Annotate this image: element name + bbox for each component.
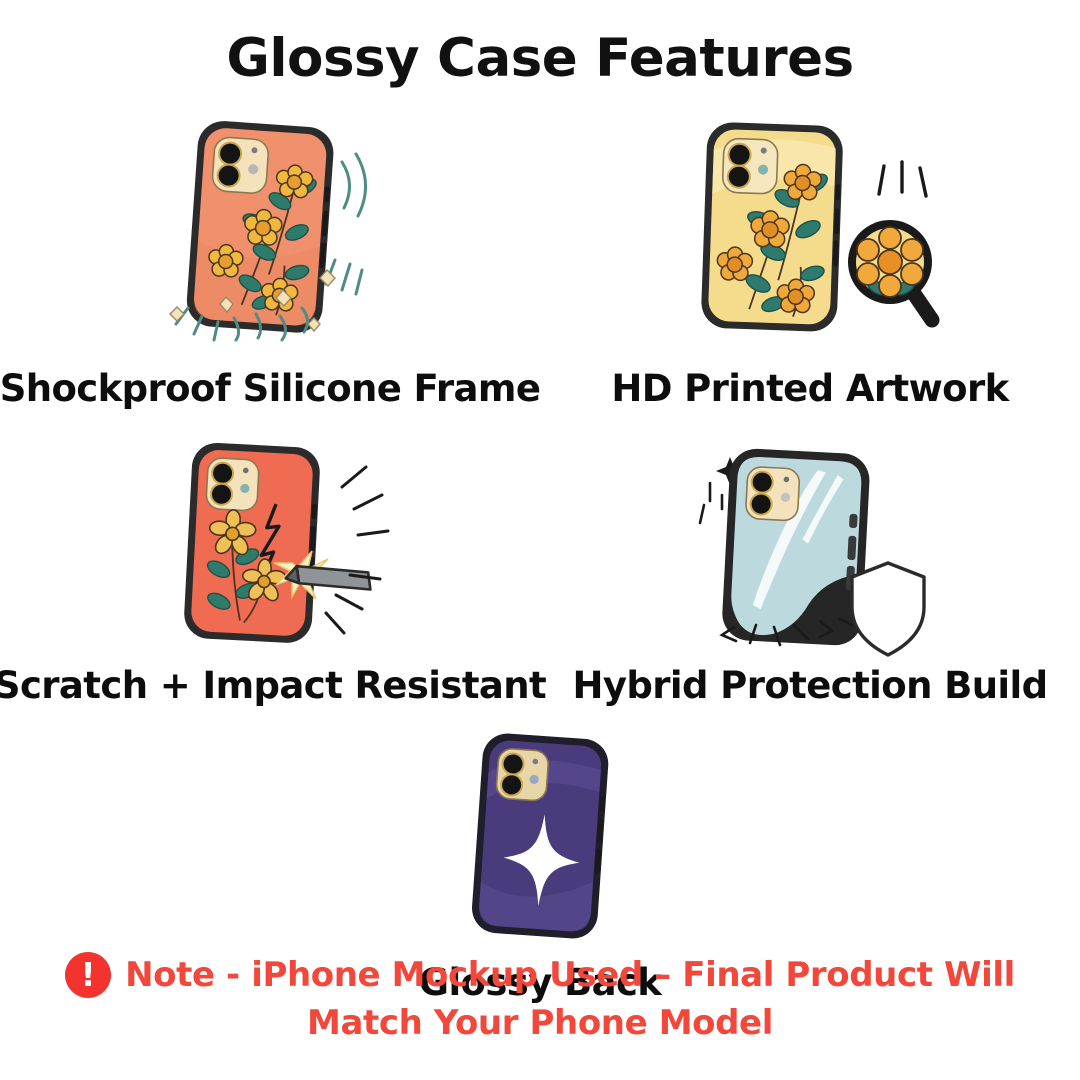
feature-scratch-impact-resistant: Scratch + Impact Resistant xyxy=(0,443,540,704)
feature-hybrid-protection-build: Hybrid Protection Build xyxy=(540,443,1080,704)
phone-case-blue-glossy-shield-icon xyxy=(670,443,950,653)
phone-case-red-floral-blade-strike-icon xyxy=(130,443,410,653)
disclaimer-note: ! Note - iPhone Mockup Used – Final Prod… xyxy=(0,952,1080,1046)
glossy-case-features-infographic: Glossy Case Features xyxy=(0,0,1080,1080)
phone-case-purple-glossy-sparkle-icon xyxy=(425,734,655,946)
phone-case-coral-floral-impact-lines-icon xyxy=(130,118,410,348)
feature-label: HD Printed Artwork xyxy=(611,370,1008,407)
feature-hd-printed-artwork: HD Printed Artwork xyxy=(540,118,1080,407)
feature-label: Shockproof Silicone Frame xyxy=(0,370,540,407)
note-line-1: ! Note - iPhone Mockup Used – Final Prod… xyxy=(65,952,1015,998)
note-text-line-1: Note - iPhone Mockup Used – Final Produc… xyxy=(125,954,1015,998)
features-row-2: Scratch + Impact Resistant xyxy=(0,443,1080,704)
exclamation-circle-icon: ! xyxy=(65,952,111,998)
phone-case-yellow-floral-magnifier-icon xyxy=(670,118,950,348)
features-grid: Shockproof Silicone Frame xyxy=(0,118,1080,1001)
features-row-1: Shockproof Silicone Frame xyxy=(0,118,1080,407)
feature-label: Hybrid Protection Build xyxy=(573,667,1048,704)
feature-label: Scratch + Impact Resistant xyxy=(0,667,546,704)
exclamation-glyph: ! xyxy=(81,958,96,991)
page-title: Glossy Case Features xyxy=(0,28,1080,89)
note-text-line-2: Match Your Phone Model xyxy=(307,1002,773,1046)
feature-shockproof-silicone-frame: Shockproof Silicone Frame xyxy=(0,118,540,407)
